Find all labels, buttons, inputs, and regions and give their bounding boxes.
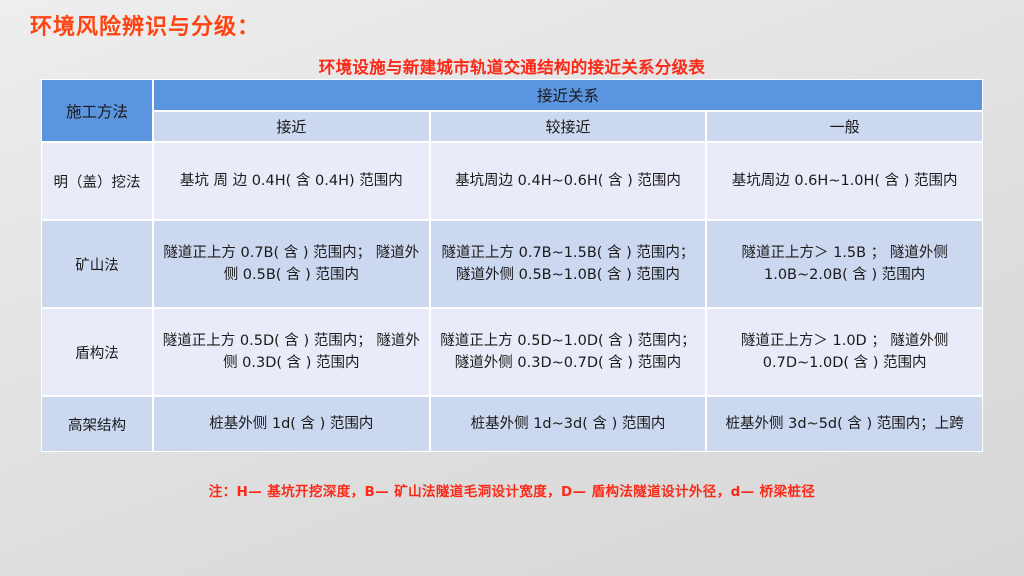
table-row: 明（盖）挖法 基坑 周 边 0.4H( 含 0.4H) 范围内 基坑周边 0.4… — [41, 142, 983, 220]
table-row: 盾构法 隧道正上方 0.5D( 含 ) 范围内； 隧道外侧 0.3D( 含 ) … — [41, 308, 983, 396]
table-footnote: 注：H— 基坑开挖深度，B— 矿山法隧道毛洞设计宽度，D— 盾构法隧道设计外径，… — [0, 480, 1024, 500]
cell-open-cut-close: 基坑 周 边 0.4H( 含 0.4H) 范围内 — [153, 142, 430, 220]
cell-elevated-general: 桩基外侧 3d~5d( 含 ) 范围内；上跨 — [706, 396, 983, 452]
cell-mining-close: 隧道正上方 0.7B( 含 ) 范围内； 隧道外侧 0.5B( 含 ) 范围内 — [153, 220, 430, 308]
slide-canvas: 环境风险辨识与分级： 环境设施与新建城市轨道交通结构的接近关系分级表 施工方法 … — [0, 0, 1024, 576]
table-header-row-sub: 接近 较接近 一般 — [41, 111, 983, 142]
header-sub-fairly-close: 较接近 — [430, 111, 707, 142]
cell-mining-general: 隧道正上方＞ 1.5B ； 隧道外侧 1.0B~2.0B( 含 ) 范围内 — [706, 220, 983, 308]
table-row: 矿山法 隧道正上方 0.7B( 含 ) 范围内； 隧道外侧 0.5B( 含 ) … — [41, 220, 983, 308]
cell-open-cut-fairly-close: 基坑周边 0.4H~0.6H( 含 ) 范围内 — [430, 142, 707, 220]
table-caption: 环境设施与新建城市轨道交通结构的接近关系分级表 — [0, 54, 1024, 78]
row-label-shield-method: 盾构法 — [41, 308, 153, 396]
cell-elevated-fairly-close: 桩基外侧 1d~3d( 含 ) 范围内 — [430, 396, 707, 452]
row-label-mining-method: 矿山法 — [41, 220, 153, 308]
table-row: 高架结构 桩基外侧 1d( 含 ) 范围内 桩基外侧 1d~3d( 含 ) 范围… — [41, 396, 983, 452]
header-sub-close: 接近 — [153, 111, 430, 142]
header-sub-general: 一般 — [706, 111, 983, 142]
row-label-elevated-structure: 高架结构 — [41, 396, 153, 452]
cell-shield-general: 隧道正上方＞ 1.0D ； 隧道外侧 0.7D~1.0D( 含 ) 范围内 — [706, 308, 983, 396]
header-construction-method: 施工方法 — [41, 79, 153, 142]
header-approach-relation: 接近关系 — [153, 79, 983, 111]
cell-shield-close: 隧道正上方 0.5D( 含 ) 范围内； 隧道外侧 0.3D( 含 ) 范围内 — [153, 308, 430, 396]
cell-elevated-close: 桩基外侧 1d( 含 ) 范围内 — [153, 396, 430, 452]
table-header-row-group: 施工方法 接近关系 — [41, 79, 983, 111]
cell-open-cut-general: 基坑周边 0.6H~1.0H( 含 ) 范围内 — [706, 142, 983, 220]
page-title: 环境风险辨识与分级： — [30, 9, 260, 41]
cell-mining-fairly-close: 隧道正上方 0.7B~1.5B( 含 ) 范围内； 隧道外侧 0.5B~1.0B… — [430, 220, 707, 308]
row-label-open-cut: 明（盖）挖法 — [41, 142, 153, 220]
approach-relation-table: 施工方法 接近关系 接近 较接近 一般 明（盖）挖法 基坑 周 边 0.4H( … — [41, 79, 983, 452]
cell-shield-fairly-close: 隧道正上方 0.5D~1.0D( 含 ) 范围内； 隧道外侧 0.3D~0.7D… — [430, 308, 707, 396]
